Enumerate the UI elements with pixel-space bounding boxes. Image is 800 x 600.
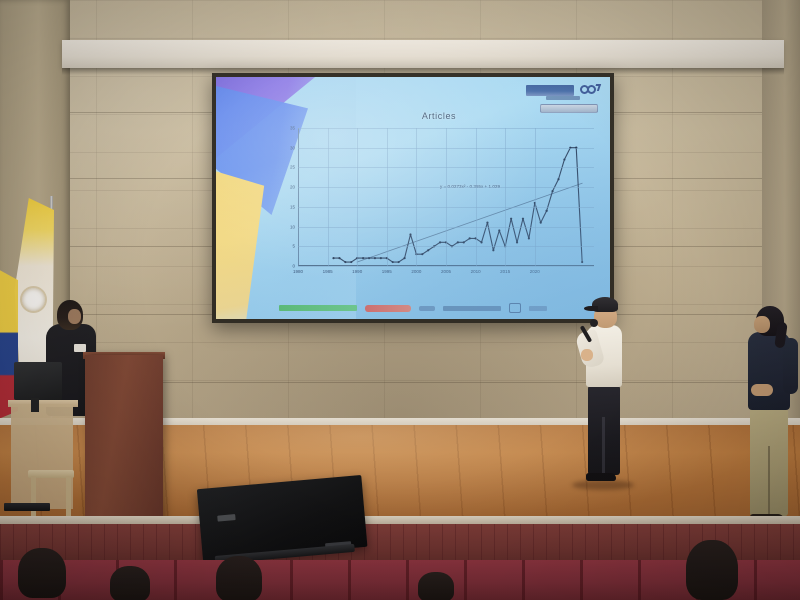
slide-chart: Articles y = 0.0273x² - 0.355x + 1.029 0… [274, 111, 604, 291]
chart-x-tick-label: 1985 [323, 269, 333, 274]
footer-red-bar [365, 305, 411, 312]
university-wordmark-logo [526, 85, 574, 96]
chart-data-point [486, 222, 488, 224]
chart-data-point [551, 190, 553, 192]
chart-title: Articles [274, 111, 604, 121]
audience-head [110, 566, 150, 600]
stool-leg [31, 476, 36, 518]
chart-data-point [546, 210, 548, 212]
footer-green-bar [279, 305, 357, 311]
presenter-shoe [586, 473, 616, 481]
chart-data-point [463, 241, 465, 243]
chart-data-point [350, 261, 352, 263]
chart-data-point [344, 261, 346, 263]
wall-seam-line [70, 382, 762, 383]
presenter-hand [581, 349, 593, 361]
confidence-monitor [14, 362, 62, 400]
chart-data-point [510, 218, 512, 220]
chart-y-tick-label: 15 [290, 204, 295, 209]
chart-y-tick-label: 25 [290, 165, 295, 170]
moderator-name-badge [74, 344, 86, 352]
chart-data-point [498, 229, 500, 231]
chart-data-point [469, 237, 471, 239]
chart-data-point [338, 257, 340, 259]
chart-y-tick-label: 10 [290, 224, 295, 229]
chart-gridline-v [387, 128, 388, 266]
chart-series-line [547, 148, 577, 211]
projection-screen: Articles y = 0.0273x² - 0.355x + 1.029 0… [212, 73, 614, 323]
chart-gridline-v [446, 128, 447, 266]
chart-y-tick-label: 30 [290, 145, 295, 150]
chart-series-line [357, 183, 582, 262]
footer-dots [419, 306, 435, 311]
chart-series-line [334, 203, 547, 262]
chart-x-tick-label: 2020 [530, 269, 540, 274]
chart-y-tick-label: 5 [292, 244, 295, 249]
chart-data-point [409, 233, 411, 235]
presenter-leg-gap [602, 417, 605, 475]
chart-x-tick-label: 2000 [411, 269, 421, 274]
chart-gridline-h [298, 266, 594, 267]
chart-data-point [528, 237, 530, 239]
chart-data-point [439, 241, 441, 243]
chart-gridline-v [357, 128, 358, 266]
chart-x-tick-label: 2015 [500, 269, 510, 274]
attendee-right-hands [751, 384, 773, 396]
audience-head [418, 572, 454, 600]
chart-data-point [457, 241, 459, 243]
audience-head [18, 548, 66, 598]
stool-leg [66, 476, 71, 518]
footer-text-bar [443, 306, 501, 311]
chart-data-point [380, 257, 382, 259]
chart-data-point [480, 241, 482, 243]
moderator-face [68, 309, 81, 324]
attendee-right-trouser-seam [768, 446, 770, 514]
presenter-cap-brim [584, 306, 598, 311]
wall-white-band [62, 40, 784, 68]
chart-data-point [516, 241, 518, 243]
attendee-right-arm [783, 338, 798, 394]
slide-logo-group [526, 84, 600, 96]
chart-data-point [427, 249, 429, 251]
audience-head [216, 556, 262, 600]
stage-object-left [4, 503, 50, 511]
chart-data-point [563, 158, 565, 160]
chart-data-point [374, 257, 376, 259]
microphone-head [590, 319, 598, 327]
chart-x-tick-label: 1995 [382, 269, 392, 274]
chart-x-tick-label: 1980 [293, 269, 303, 274]
chart-data-point [522, 218, 524, 220]
chart-y-tick-label: 0 [292, 264, 295, 269]
chart-data-point [392, 261, 394, 263]
org-logo-icon [580, 84, 600, 96]
chart-gridline-v [476, 128, 477, 266]
chart-gridline-v [328, 128, 329, 266]
slide-box-icon [509, 303, 521, 313]
chart-data-point [332, 257, 334, 259]
audience-head [686, 540, 738, 600]
chart-plot-area: y = 0.0273x² - 0.355x + 1.029 0510152025… [298, 128, 594, 266]
university-flag-emblem [20, 286, 47, 313]
tv-on-stage [197, 475, 368, 569]
chart-data-point [398, 261, 400, 263]
monitor-stand [31, 398, 39, 412]
footer-end-bar [529, 306, 547, 311]
chart-x-tick-label: 2005 [441, 269, 451, 274]
chart-x-tick-label: 2010 [471, 269, 481, 274]
chart-data-point [581, 261, 583, 263]
chart-x-tick-label: 1990 [352, 269, 362, 274]
presentation-photo-scene: Articles y = 0.0273x² - 0.355x + 1.029 0… [0, 0, 800, 600]
attendee-right-face [754, 316, 770, 333]
chart-data-point [362, 257, 364, 259]
chart-data-point [403, 257, 405, 259]
slide-footer-bar [216, 301, 610, 315]
podium [85, 355, 163, 530]
chart-gridline-v [416, 128, 417, 266]
chart-series-line [576, 148, 582, 262]
chart-gridline-v [298, 128, 299, 266]
chart-data-point [492, 249, 494, 251]
chart-data-point [540, 222, 542, 224]
university-wordmark-subtitle [546, 96, 580, 100]
chart-y-tick-label: 20 [290, 185, 295, 190]
presenter [580, 297, 628, 487]
chart-data-point [557, 178, 559, 180]
attendee-right [744, 306, 796, 528]
chart-y-tick-label: 35 [290, 126, 295, 131]
chart-data-point [421, 253, 423, 255]
chart-gridline-v [505, 128, 506, 266]
chart-gridline-v [535, 128, 536, 266]
presentation-slide: Articles y = 0.0273x² - 0.355x + 1.029 0… [216, 77, 610, 319]
